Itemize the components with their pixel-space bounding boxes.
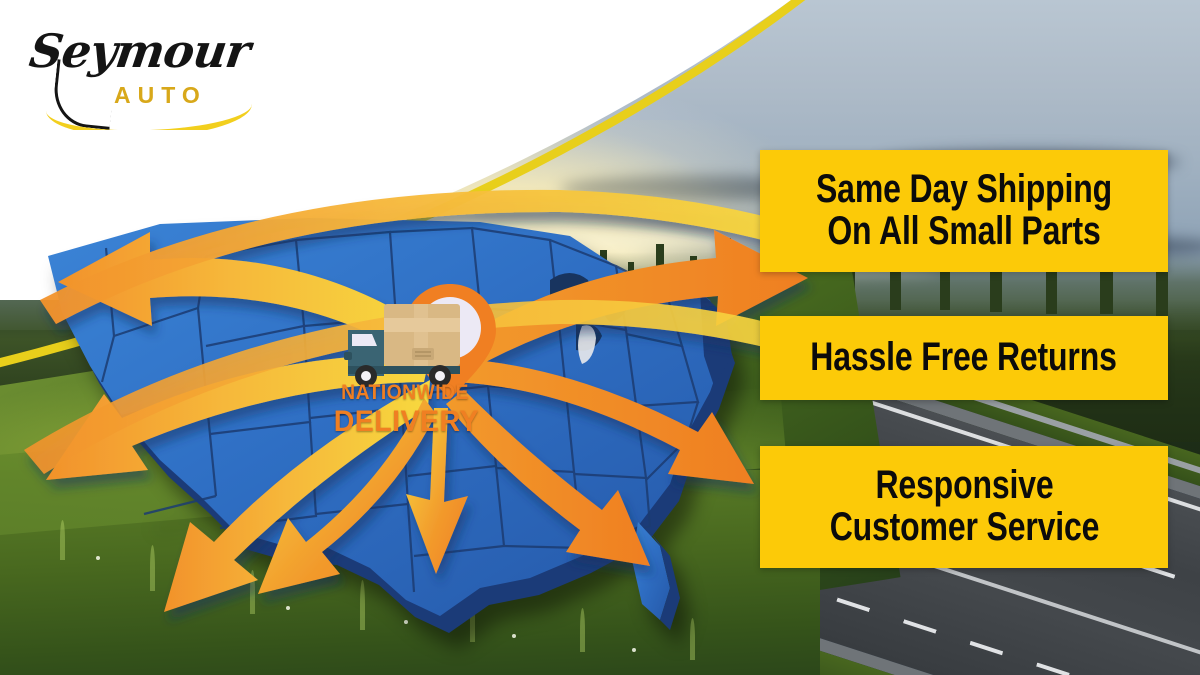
delivery-truck-icon [344,304,460,387]
feature-line: On All Small Parts [816,211,1112,253]
feature-line: Same Day Shipping [816,169,1112,211]
nationwide-delivery-label: NATIONWIDE DELIVERY [330,382,480,437]
feature-box-responsive-customer-service[interactable]: Responsive Customer Service [760,446,1168,568]
feature-text: Responsive Customer Service [829,465,1099,548]
feature-line: Responsive [829,465,1099,507]
feature-line: Customer Service [829,507,1099,549]
nationwide-label-line1: NATIONWIDE [336,382,474,403]
marketing-banner: Seymour AUTO [0,0,1200,675]
feature-line: Hassle Free Returns [811,337,1117,379]
nationwide-label-line2: DELIVERY [334,407,477,437]
logo-swoosh-icon [46,104,252,130]
feature-text: Hassle Free Returns [811,337,1117,379]
feature-box-same-day-shipping[interactable]: Same Day Shipping On All Small Parts [760,150,1168,272]
brand-logo[interactable]: Seymour AUTO [28,22,258,127]
feature-text: Same Day Shipping On All Small Parts [816,169,1112,252]
feature-box-hassle-free-returns[interactable]: Hassle Free Returns [760,316,1168,400]
